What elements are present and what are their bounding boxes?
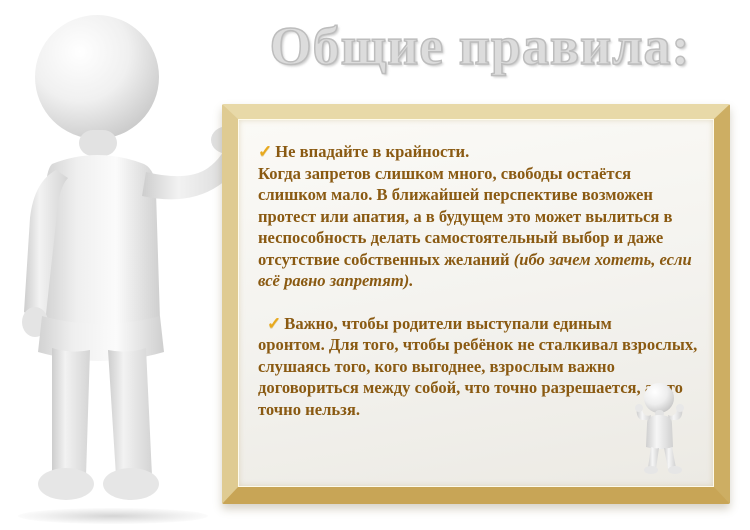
paragraph-2-heading: Важно, чтобы родители выступали единым <box>284 314 612 333</box>
small-mannequin-left-foot <box>644 466 658 474</box>
checkmark-icon: ✓ <box>258 142 275 161</box>
figure-floor-shadow <box>18 508 208 524</box>
mannequin-right-leg <box>108 348 152 479</box>
small-mannequin-figure <box>620 381 698 477</box>
checkmark-icon-2: ✓ <box>258 314 284 333</box>
small-mannequin-left-hand <box>635 404 643 412</box>
mannequin-left-leg <box>52 348 90 479</box>
bullet-paragraph-1: ✓Не впадайте в крайности. Когда запретов… <box>258 141 702 292</box>
small-mannequin-left-leg <box>648 447 659 469</box>
mannequin-neck <box>79 130 117 156</box>
mannequin-right-foot <box>103 468 159 500</box>
small-mannequin-head <box>644 383 674 413</box>
small-mannequin-torso <box>646 415 673 449</box>
mannequin-head <box>35 15 159 139</box>
frame-panel: ✓Не впадайте в крайности. Когда запретов… <box>238 119 714 487</box>
mannequin-left-foot <box>38 468 94 500</box>
slide-canvas: Общие правила: <box>0 0 750 530</box>
paragraph-1-heading: Не впадайте в крайности. <box>275 142 469 161</box>
small-mannequin-right-hand <box>676 404 684 412</box>
small-mannequin-right-foot <box>668 466 682 474</box>
small-mannequin-right-leg <box>664 447 676 469</box>
large-mannequin-figure <box>0 4 250 524</box>
page-title: Общие правила: <box>250 12 710 84</box>
picture-frame: ✓Не впадайте в крайности. Когда запретов… <box>222 104 730 504</box>
